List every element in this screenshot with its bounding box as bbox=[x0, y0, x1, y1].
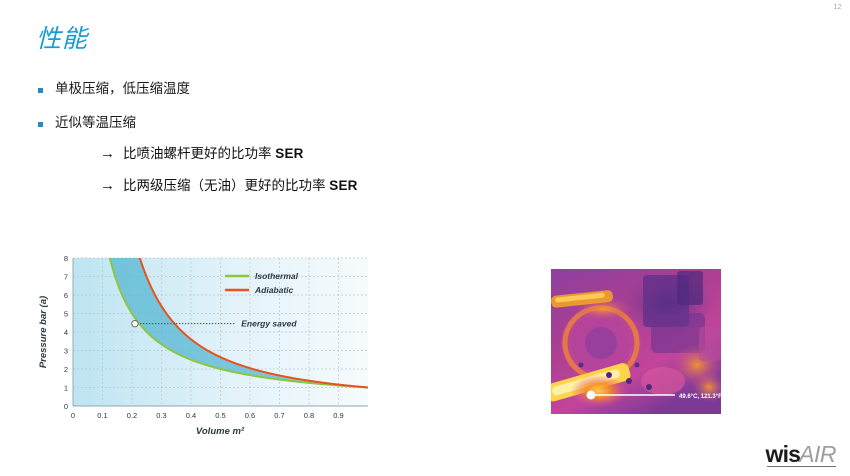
bullet-text: 单极压缩，低压缩温度 bbox=[55, 80, 190, 98]
x-axis-label: Volume m² bbox=[196, 426, 245, 437]
bullet-text: 近似等温压缩 bbox=[55, 114, 136, 132]
y-tick-label: 6 bbox=[64, 291, 68, 300]
y-tick-label: 7 bbox=[64, 273, 68, 282]
sub-bullet-text: 比喷油螺杆更好的比功率 SER bbox=[123, 145, 304, 163]
logo-underline bbox=[767, 466, 836, 468]
x-tick-label: 0.4 bbox=[186, 411, 196, 420]
temperature-marker bbox=[587, 391, 596, 400]
y-tick-label: 3 bbox=[64, 347, 68, 356]
chart-svg: 01234567800.10.20.30.40.50.60.70.80.9 En… bbox=[33, 248, 378, 438]
square-bullet-icon bbox=[38, 122, 43, 127]
square-bullet-icon bbox=[38, 88, 43, 93]
y-axis-label: Pressure bar (a) bbox=[38, 296, 49, 368]
x-tick-label: 0.8 bbox=[304, 411, 314, 420]
x-tick-label: 0.5 bbox=[215, 411, 225, 420]
page-number: 12 bbox=[834, 4, 842, 11]
brand-logo: wis AIR bbox=[765, 440, 836, 466]
legend-label-isothermal: Isothermal bbox=[255, 271, 299, 281]
logo-secondary-text: AIR bbox=[799, 444, 836, 466]
y-tick-label: 5 bbox=[64, 310, 68, 319]
x-tick-label: 0.9 bbox=[333, 411, 343, 420]
sub-bullet-body: 比喷油螺杆更好的比功率 bbox=[123, 146, 275, 161]
bullet-list: 单极压缩，低压缩温度 近似等温压缩 bbox=[38, 80, 508, 148]
slide-root: 12 性能 单极压缩，低压缩温度 近似等温压缩 → 比喷油螺杆更好的比功率 SE… bbox=[0, 0, 850, 476]
x-tick-label: 0.3 bbox=[156, 411, 166, 420]
logo-primary-text: wis bbox=[765, 444, 800, 466]
x-tick-label: 0 bbox=[71, 411, 75, 420]
y-tick-label: 8 bbox=[64, 254, 68, 263]
x-tick-label: 0.2 bbox=[127, 411, 137, 420]
thermal-image: 49.6°C, 121.3°F bbox=[551, 269, 721, 414]
energy-saved-label: Energy saved bbox=[241, 319, 297, 329]
list-item: 单极压缩，低压缩温度 bbox=[38, 80, 508, 98]
x-tick-label: 0.6 bbox=[245, 411, 255, 420]
sub-bullet-text: 比两级压缩（无油）更好的比功率 SER bbox=[123, 177, 358, 195]
list-item: → 比两级压缩（无油）更好的比功率 SER bbox=[100, 177, 530, 195]
temperature-caption: 49.6°C, 121.3°F bbox=[679, 394, 721, 400]
list-item: → 比喷油螺杆更好的比功率 SER bbox=[100, 145, 530, 163]
thermal-image-svg: 49.6°C, 121.3°F bbox=[551, 269, 721, 414]
sub-bullet-body: 比两级压缩（无油）更好的比功率 bbox=[123, 178, 329, 193]
page-title: 性能 bbox=[36, 26, 88, 54]
x-tick-label: 0.1 bbox=[97, 411, 107, 420]
sub-bullet-emphasis: SER bbox=[329, 178, 357, 193]
sub-bullet-emphasis: SER bbox=[275, 146, 303, 161]
y-tick-label: 2 bbox=[64, 365, 68, 374]
sub-bullet-list: → 比喷油螺杆更好的比功率 SER → 比两级压缩（无油）更好的比功率 SER bbox=[100, 145, 530, 208]
x-tick-label: 0.7 bbox=[274, 411, 284, 420]
legend-label-adiabatic: Adiabatic bbox=[254, 285, 294, 295]
arrow-right-icon: → bbox=[100, 146, 115, 161]
y-tick-label: 0 bbox=[64, 402, 68, 411]
pressure-volume-chart: 01234567800.10.20.30.40.50.60.70.80.9 En… bbox=[33, 248, 378, 438]
y-tick-label: 4 bbox=[64, 328, 68, 337]
energy-saved-marker bbox=[132, 320, 138, 326]
arrow-right-icon: → bbox=[100, 178, 115, 193]
y-tick-label: 1 bbox=[64, 384, 68, 393]
list-item: 近似等温压缩 bbox=[38, 114, 508, 132]
